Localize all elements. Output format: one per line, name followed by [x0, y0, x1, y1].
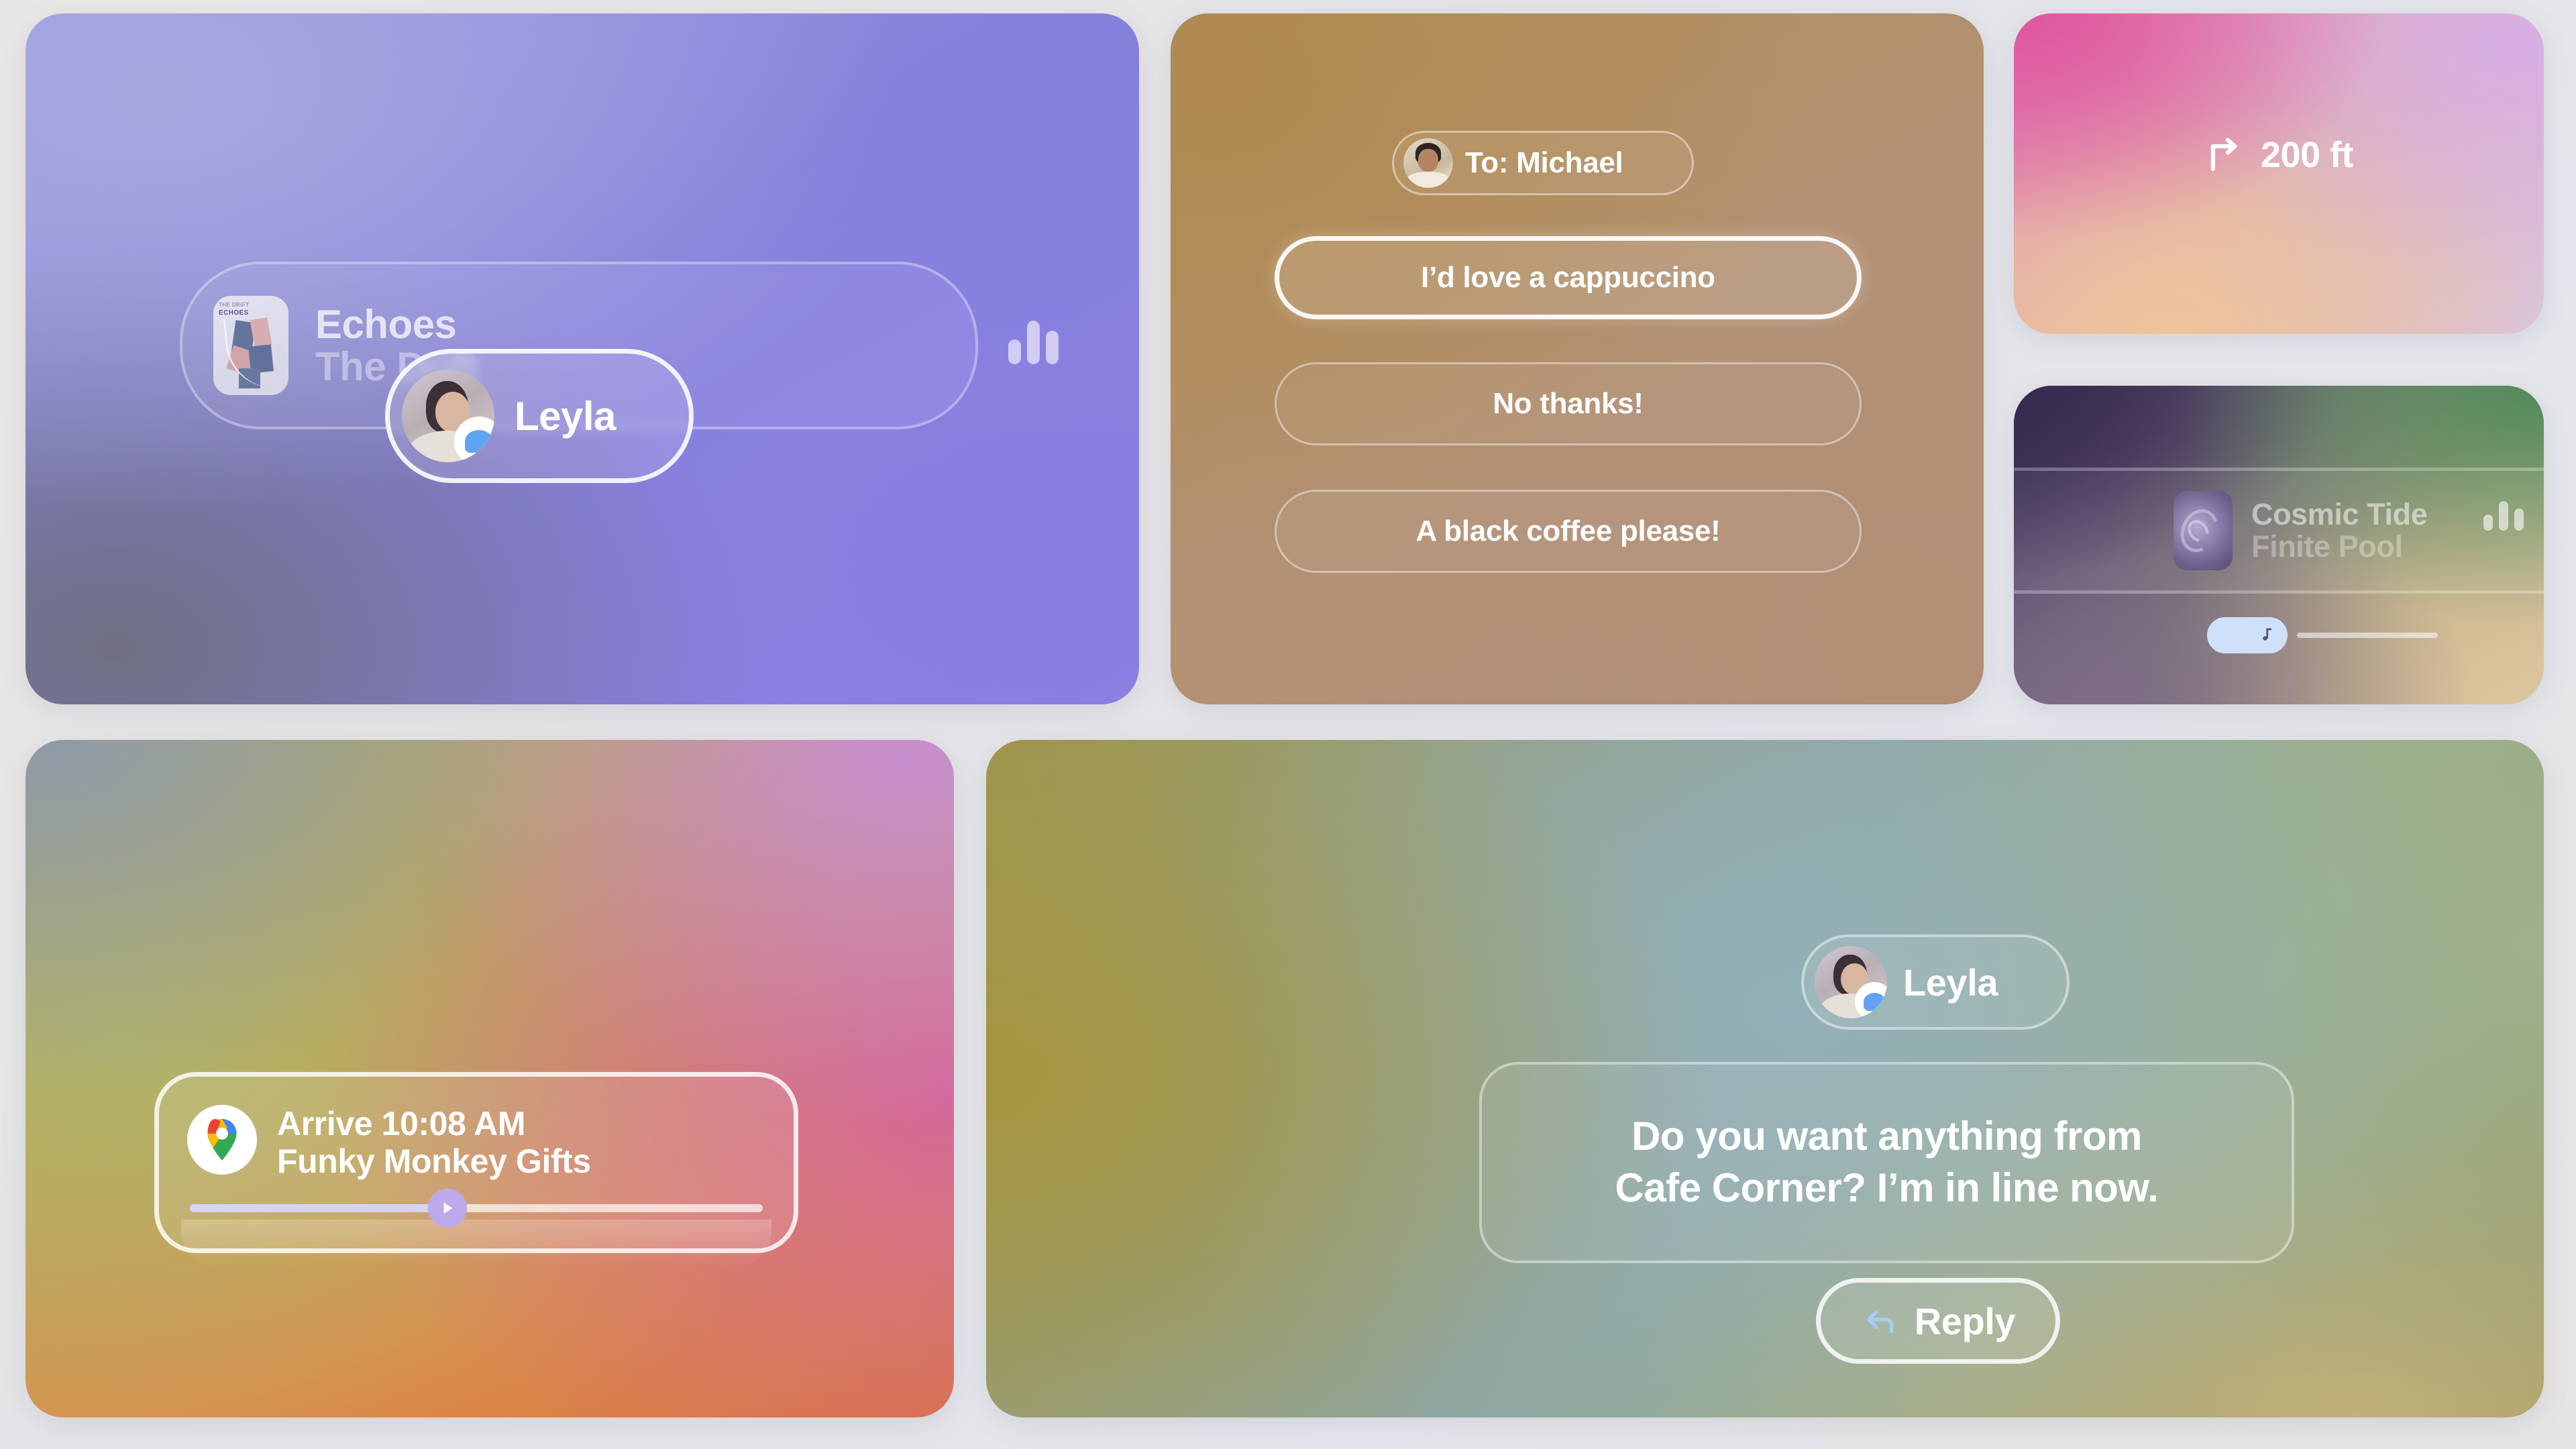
album-art-label-bottom: ECHOES [219, 309, 249, 317]
arrival-text-block: Arrive 10:08 AM Funky Monkey Gifts [277, 1105, 591, 1180]
reply-arrow-icon [1861, 1301, 1900, 1340]
equalizer-bar [2483, 515, 2493, 531]
equalizer-bar [1046, 331, 1059, 364]
music-and-caller-card[interactable]: THE DRIFT ECHOES Echoes The Drift [25, 13, 1139, 704]
incoming-message-card[interactable]: Leyla Do you want anything from Cafe Cor… [986, 740, 2544, 1417]
album-art-swirl [2173, 491, 2233, 570]
equalizer-bars-icon [2483, 501, 2524, 531]
avatar [1403, 138, 1453, 188]
caller-name: Leyla [515, 393, 616, 439]
avatar-body [1406, 172, 1450, 188]
cosmic-music-card[interactable]: Cosmic Tide Finite Pool [2014, 386, 2544, 704]
arrival-time-label: Arrive 10:08 AM [277, 1105, 591, 1142]
equalizer-bar [2499, 501, 2508, 531]
message-line-1: Do you want anything from [1631, 1114, 2142, 1159]
messages-bubble-icon [1855, 982, 1887, 1018]
chat-bubble-shape [1864, 993, 1886, 1011]
album-art-label-top: THE DRIFT [219, 302, 249, 308]
now-playing-strip[interactable]: Cosmic Tide Finite Pool [2014, 468, 2544, 594]
destination-label: Funky Monkey Gifts [277, 1142, 591, 1180]
navigation-instruction: 200 ft [2204, 134, 2353, 176]
equalizer-bar [2514, 508, 2524, 531]
now-playing-meta: Cosmic Tide Finite Pool [2251, 498, 2427, 562]
equalizer-bars-icon [1008, 321, 1059, 364]
playback-progress-bar[interactable] [2297, 633, 2438, 638]
navigation-distance-card[interactable]: 200 ft [2014, 13, 2544, 334]
play-arrow-icon[interactable] [428, 1189, 467, 1228]
album-art-echoes: THE DRIFT ECHOES [213, 296, 288, 395]
google-maps-pin-icon [187, 1105, 257, 1175]
maps-arrival-card[interactable]: Arrive 10:08 AM Funky Monkey Gifts 8:32 [25, 740, 954, 1417]
music-note-icon [2257, 623, 2277, 647]
avatar [402, 370, 494, 462]
smart-reply-card[interactable]: To: Michael I’d love a cappuccino No tha… [1171, 13, 1984, 704]
message-text: Do you want anything from Cafe Corner? I… [1615, 1111, 2158, 1214]
track-artist: Finite Pool [2251, 531, 2427, 563]
message-line-2: Cafe Corner? I’m in line now. [1615, 1165, 2158, 1210]
message-bubble[interactable]: Do you want anything from Cafe Corner? I… [1479, 1062, 2294, 1263]
incoming-caller-pill[interactable]: Leyla [385, 349, 694, 483]
route-progress-bar[interactable] [190, 1204, 763, 1212]
distance-label: 200 ft [2261, 134, 2353, 176]
album-art-curve [223, 314, 277, 392]
track-title: Echoes [315, 304, 478, 345]
smart-reply-option-2[interactable]: A black coffee please! [1275, 490, 1862, 573]
arrival-panel[interactable]: Arrive 10:08 AM Funky Monkey Gifts [154, 1072, 798, 1253]
progress-fill [190, 1204, 447, 1212]
cosmic-player-controls[interactable] [2207, 617, 2438, 653]
avatar-face [1418, 149, 1438, 172]
reply-button-label: Reply [1915, 1299, 2016, 1343]
music-note-pill[interactable] [2207, 617, 2288, 653]
smart-reply-option-1[interactable]: No thanks! [1275, 362, 1862, 445]
avatar [1815, 946, 1887, 1018]
chat-bubble-shape [465, 430, 493, 453]
equalizer-bar [1027, 321, 1040, 364]
recipient-chip[interactable]: To: Michael [1392, 131, 1694, 195]
sender-name: Leyla [1903, 961, 1998, 1004]
widget-dashboard: THE DRIFT ECHOES Echoes The Drift [0, 0, 2576, 1449]
track-title: Cosmic Tide [2251, 498, 2427, 531]
sender-chip[interactable]: Leyla [1801, 934, 2070, 1030]
equalizer-bar [1008, 339, 1021, 364]
recipient-label: To: Michael [1465, 146, 1623, 180]
turn-right-icon [2204, 134, 2246, 176]
reply-button[interactable]: Reply [1816, 1278, 2060, 1364]
smart-reply-option-0[interactable]: I’d love a cappuccino [1275, 236, 1862, 319]
